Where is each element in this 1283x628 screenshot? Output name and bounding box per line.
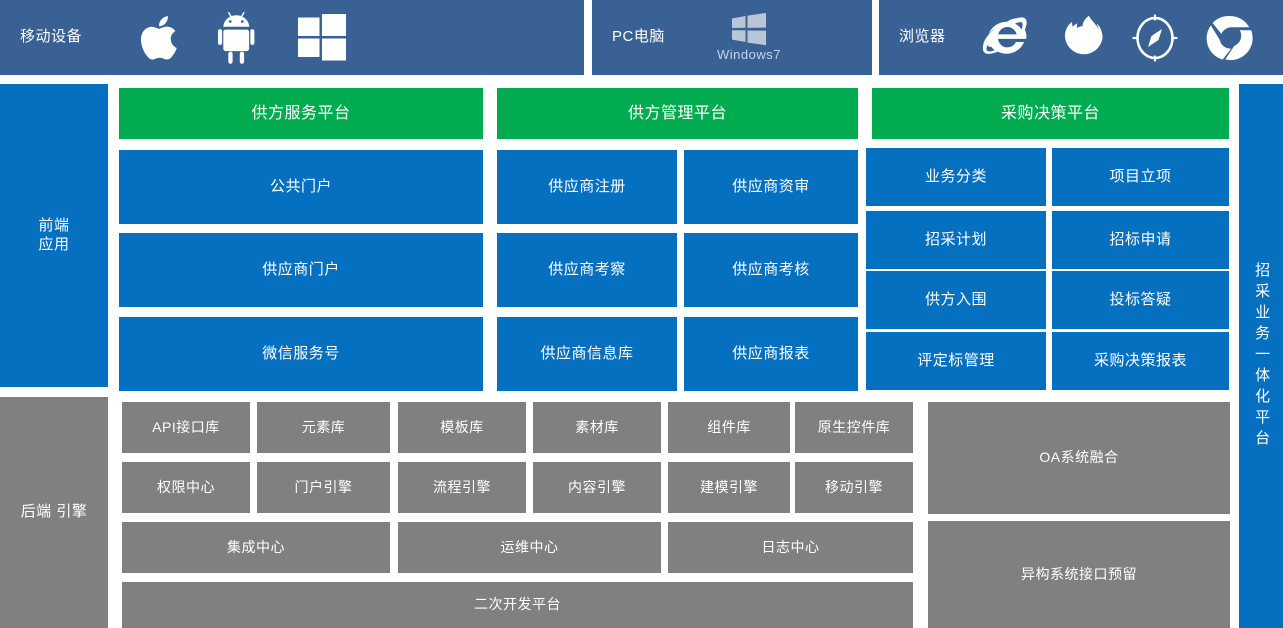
- module-wechat-service-account[interactable]: 微信服务号: [119, 317, 483, 391]
- rail-frontend-application: 前端 应用: [0, 84, 108, 387]
- platform-header-label: 供方管理平台: [628, 104, 727, 124]
- module-label: 评定标管理: [917, 352, 995, 370]
- android-icon: [218, 12, 264, 64]
- engine-modeling-engine[interactable]: 建模引擎: [668, 462, 790, 513]
- engine-oa-system-integration[interactable]: OA系统融合: [928, 402, 1230, 514]
- engine-template-library[interactable]: 模板库: [398, 402, 526, 453]
- platform-header-label: 供方服务平台: [251, 104, 350, 124]
- module-supplier-inspection[interactable]: 供应商考察: [497, 233, 677, 307]
- engine-label: OA系统融合: [1039, 449, 1118, 466]
- engine-element-library[interactable]: 元素库: [257, 402, 390, 453]
- engine-label: 日志中心: [762, 539, 820, 556]
- engine-label: API接口库: [152, 419, 220, 436]
- engine-process-engine[interactable]: 流程引擎: [398, 462, 526, 513]
- engine-label: 集成中心: [227, 539, 285, 556]
- engine-label: 素材库: [575, 419, 619, 436]
- engine-heterogeneous-system-interface[interactable]: 异构系统接口预留: [928, 521, 1230, 628]
- top-bar-mobile-devices: 移动设备: [0, 0, 584, 75]
- engine-label: 建模引擎: [700, 479, 758, 496]
- rail-backend-engine: 后端 引擎: [0, 397, 108, 628]
- engine-component-library[interactable]: 组件库: [668, 402, 790, 453]
- module-label: 供应商报表: [732, 345, 810, 363]
- module-supplier-qualification-review[interactable]: 供应商资审: [684, 150, 858, 224]
- module-label: 投标答疑: [1109, 291, 1171, 309]
- module-public-portal[interactable]: 公共门户: [119, 150, 483, 224]
- top-bar-browsers: 浏览器: [879, 0, 1283, 75]
- engine-label: 组件库: [707, 419, 751, 436]
- engine-label: 流程引擎: [433, 479, 491, 496]
- mobile-devices-label: 移动设备: [20, 0, 82, 75]
- engine-secondary-development-platform[interactable]: 二次开发平台: [122, 582, 913, 628]
- module-label: 招采计划: [925, 231, 987, 249]
- engine-label: 模板库: [440, 419, 484, 436]
- module-label: 供应商门户: [262, 261, 340, 279]
- internet-explorer-icon: [982, 15, 1032, 61]
- engine-mobile-engine[interactable]: 移动引擎: [795, 462, 913, 513]
- pc-label: PC电脑: [612, 0, 665, 75]
- engine-label: 异构系统接口预留: [1021, 566, 1137, 583]
- rail-backend-line1: 后端: [21, 503, 52, 520]
- browsers-label: 浏览器: [899, 0, 946, 75]
- rail-frontend-line1: 前端: [38, 217, 69, 235]
- module-supplier-assessment[interactable]: 供应商考核: [684, 233, 858, 307]
- engine-portal-engine[interactable]: 门户引擎: [257, 462, 390, 513]
- module-label: 供应商考察: [548, 261, 626, 279]
- module-label: 采购决策报表: [1094, 352, 1187, 370]
- module-supplier-report[interactable]: 供应商报表: [684, 317, 858, 391]
- engine-label: 元素库: [302, 419, 346, 436]
- module-evaluation-standard-management[interactable]: 评定标管理: [866, 332, 1046, 390]
- engine-api-library[interactable]: API接口库: [122, 402, 250, 453]
- rail-frontend-line2: 应用: [38, 236, 69, 254]
- module-label: 项目立项: [1109, 168, 1171, 186]
- rail-backend-line2: 引擎: [56, 503, 87, 520]
- engine-permission-center[interactable]: 权限中心: [122, 462, 250, 513]
- engine-label: 权限中心: [157, 479, 215, 496]
- rail-right-label: 招采业务一体化平台: [1252, 262, 1270, 451]
- module-label: 公共门户: [270, 178, 332, 196]
- module-label: 供应商信息库: [540, 345, 633, 363]
- engine-material-library[interactable]: 素材库: [533, 402, 661, 453]
- module-label: 业务分类: [925, 168, 987, 186]
- engine-integration-center[interactable]: 集成中心: [122, 522, 390, 573]
- module-label: 供应商考核: [732, 261, 810, 279]
- module-procurement-plan[interactable]: 招采计划: [866, 211, 1046, 269]
- module-label: 供应商资审: [732, 178, 810, 196]
- platform-header-supplier-management[interactable]: 供方管理平台: [497, 88, 858, 139]
- engine-label: 门户引擎: [295, 479, 353, 496]
- engine-label: 运维中心: [501, 539, 559, 556]
- module-supplier-portal[interactable]: 供应商门户: [119, 233, 483, 307]
- module-label: 供方入围: [925, 291, 987, 309]
- top-bar-pc: PC电脑 Windows7: [592, 0, 872, 75]
- module-bidding-application[interactable]: 招标申请: [1052, 211, 1229, 269]
- engine-label: 移动引擎: [825, 479, 883, 496]
- module-label: 微信服务号: [262, 345, 340, 363]
- engine-content-engine[interactable]: 内容引擎: [533, 462, 661, 513]
- module-label: 招标申请: [1109, 231, 1171, 249]
- module-bid-qa[interactable]: 投标答疑: [1052, 271, 1229, 329]
- windows7-icon: Windows7: [717, 12, 781, 63]
- engine-label: 内容引擎: [568, 479, 626, 496]
- firefox-icon: [1060, 15, 1104, 61]
- architecture-diagram: 移动设备: [0, 0, 1283, 628]
- module-business-classification[interactable]: 业务分类: [866, 148, 1046, 206]
- module-supplier-shortlist[interactable]: 供方入围: [866, 271, 1046, 329]
- apple-icon: [140, 12, 184, 64]
- engine-label: 二次开发平台: [474, 596, 561, 613]
- windows7-caption: Windows7: [717, 47, 781, 63]
- engine-native-control-library[interactable]: 原生控件库: [795, 402, 913, 453]
- platform-header-supplier-service[interactable]: 供方服务平台: [119, 88, 483, 139]
- module-supplier-information-database[interactable]: 供应商信息库: [497, 317, 677, 391]
- module-supplier-registration[interactable]: 供应商注册: [497, 150, 677, 224]
- module-project-initiation[interactable]: 项目立项: [1052, 148, 1229, 206]
- platform-header-procurement-decision[interactable]: 采购决策平台: [872, 88, 1229, 139]
- engine-operation-center[interactable]: 运维中心: [398, 522, 661, 573]
- windows-icon: [298, 14, 346, 62]
- engine-label: 原生控件库: [818, 419, 891, 436]
- platform-header-label: 采购决策平台: [1001, 104, 1100, 124]
- engine-log-center[interactable]: 日志中心: [668, 522, 913, 573]
- module-label: 供应商注册: [548, 178, 626, 196]
- module-procurement-decision-report[interactable]: 采购决策报表: [1052, 332, 1229, 390]
- chrome-icon: [1206, 14, 1254, 62]
- rail-procurement-platform: 招采业务一体化平台: [1239, 84, 1283, 628]
- safari-icon: [1132, 14, 1178, 62]
